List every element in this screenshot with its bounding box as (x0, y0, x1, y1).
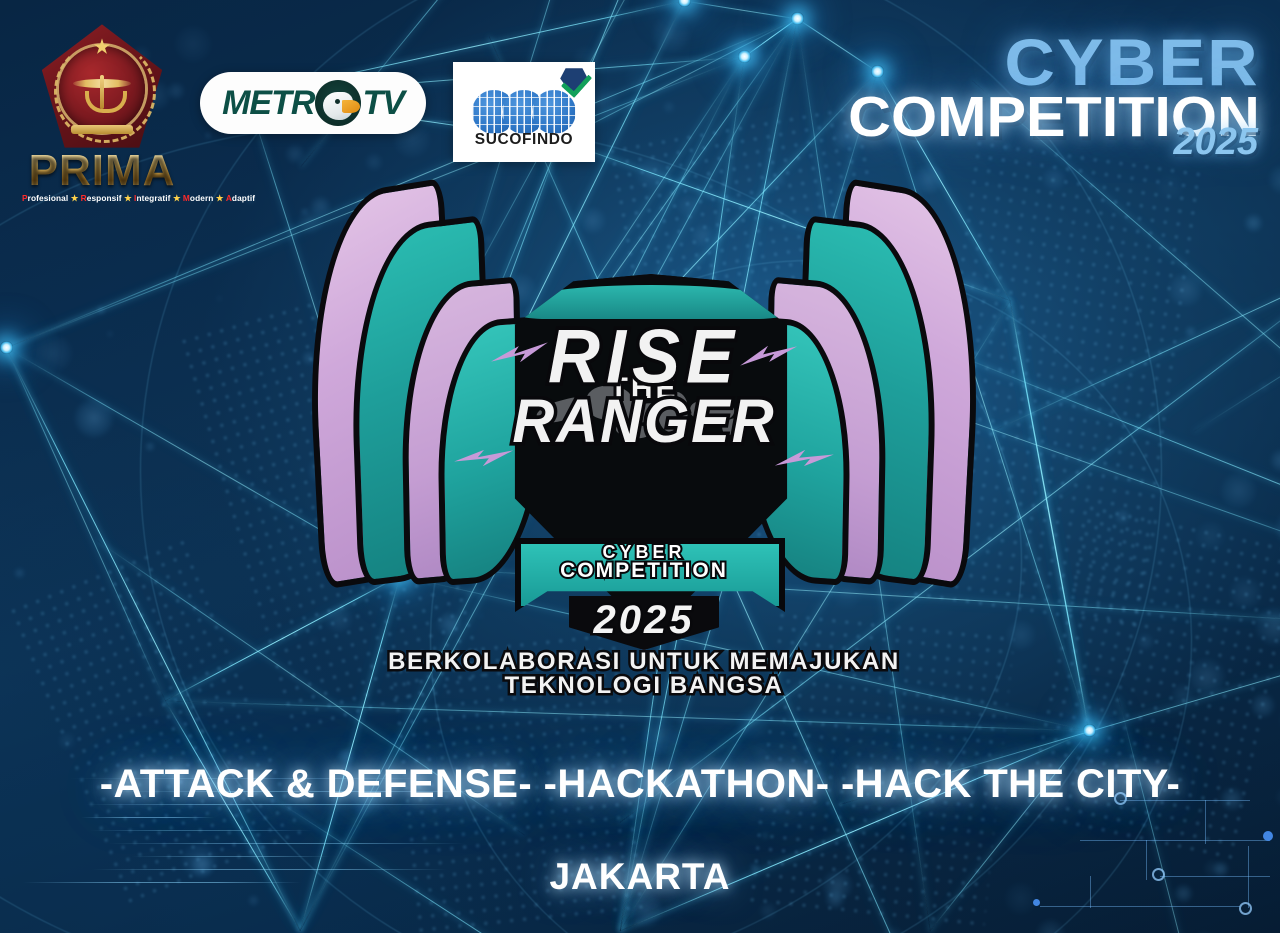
green-check-badge-icon (559, 67, 589, 99)
ribbon-line-competition: COMPETITION (514, 561, 774, 581)
tni-pentagon-icon (32, 16, 172, 156)
eagle-head-icon (315, 80, 361, 126)
prima-tagline: Profesional ★ Responsif ★ Integratif ★ M… (22, 193, 182, 203)
rise-the-ranger-emblem: RISE THE RANGER CYBER COMPETITION 2025 B… (304, 178, 984, 698)
sucofindo-wordmark: SUCOFINDO (453, 131, 595, 149)
emblem-tagline: BERKOLABORASI UNTUK MEMAJUKAN TEKNOLOGI … (334, 650, 954, 698)
heading-year: 2025 (1173, 126, 1258, 159)
emblem-ribbon-text: CYBER COMPETITION (514, 544, 774, 581)
emblem-title-rise: RISE (479, 326, 809, 389)
heading-line-cyber: CYBER (840, 34, 1260, 91)
city-label: JAKARTA (0, 856, 1280, 898)
metrotv-logo[interactable]: METR TV (200, 72, 426, 134)
metrotv-word-right: TV (362, 84, 403, 123)
event-list: -ATTACK & DEFENSE- -HACKATHON- -HACK THE… (0, 762, 1280, 807)
emblem-title-ranger: RANGER (479, 396, 809, 446)
prima-logo[interactable]: PRIMA Profesional ★ Responsif ★ Integrat… (22, 16, 182, 203)
prima-wordmark: PRIMA (22, 150, 182, 192)
emblem-title: RISE THE RANGER (479, 328, 809, 445)
emblem-tagline-line1: BERKOLABORASI UNTUK MEMAJUKAN (334, 650, 954, 674)
emblem-year: 2025 (559, 598, 729, 643)
metrotv-word-left: METR (222, 84, 314, 123)
emblem-tagline-line2: TEKNOLOGI BANGSA (334, 674, 954, 698)
anchor-icon (100, 75, 104, 109)
poster-canvas: PRIMA Profesional ★ Responsif ★ Integrat… (0, 0, 1280, 933)
cyber-competition-heading: CYBER COMPETITION 2025 (864, 34, 1260, 142)
sucofindo-logo[interactable]: SUCOFINDO (453, 62, 595, 162)
motto-scroll-icon (71, 125, 133, 134)
